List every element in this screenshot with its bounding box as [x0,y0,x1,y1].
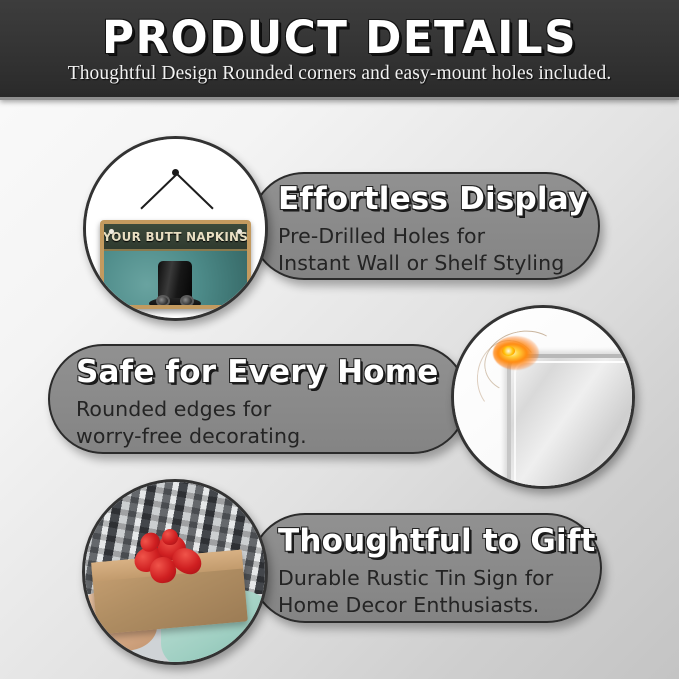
feature-3-title: Thoughtful to Gift [278,523,600,559]
tin-sign-text: YOUR BUTT NAPKINS [103,229,248,244]
product-details-infographic: PRODUCT DETAILS Thoughtful Design Rounde… [0,0,679,679]
feature-1-line-2: Instant Wall or Shelf Styling [278,250,598,277]
feature-1-pill: Effortless Display Pre-Drilled Holes for… [250,172,600,280]
feature-3-line-1: Durable Rustic Tin Sign for [278,565,600,592]
rounded-corner-photo [451,305,635,489]
metal-plate-corner [507,354,635,489]
screw-icon [237,229,242,234]
feature-3-line-2: Home Decor Enthusiasts. [278,592,600,619]
feature-2-title: Safe for Every Home [76,354,466,390]
feature-2-pill: Safe for Every Home Rounded edges for wo… [48,344,468,454]
page-title: PRODUCT DETAILS [10,11,669,64]
hanging-cord-left [140,173,177,209]
goggles-graphic [156,294,194,307]
header-banner: PRODUCT DETAILS Thoughtful Design Rounde… [0,0,679,100]
feature-2-line-2: worry-free decorating. [76,423,466,450]
hanging-cord-right [176,173,213,209]
feature-1-title: Effortless Display [278,181,598,217]
tin-sign-banner: YOUR BUTT NAPKINS [104,224,246,252]
tin-sign-plate: YOUR BUTT NAPKINS [100,220,250,310]
tin-sign-photo: YOUR BUTT NAPKINS [83,136,268,321]
gift-box-photo [82,479,268,665]
feature-3-pill: Thoughtful to Gift Durable Rustic Tin Si… [250,513,602,623]
page-subtitle: Thoughtful Design Rounded corners and ea… [0,63,679,85]
feature-1-line-1: Pre-Drilled Holes for [278,223,598,250]
feature-2-line-1: Rounded edges for [76,396,466,423]
screw-icon [109,229,114,234]
red-ribbon-bow [132,529,206,589]
